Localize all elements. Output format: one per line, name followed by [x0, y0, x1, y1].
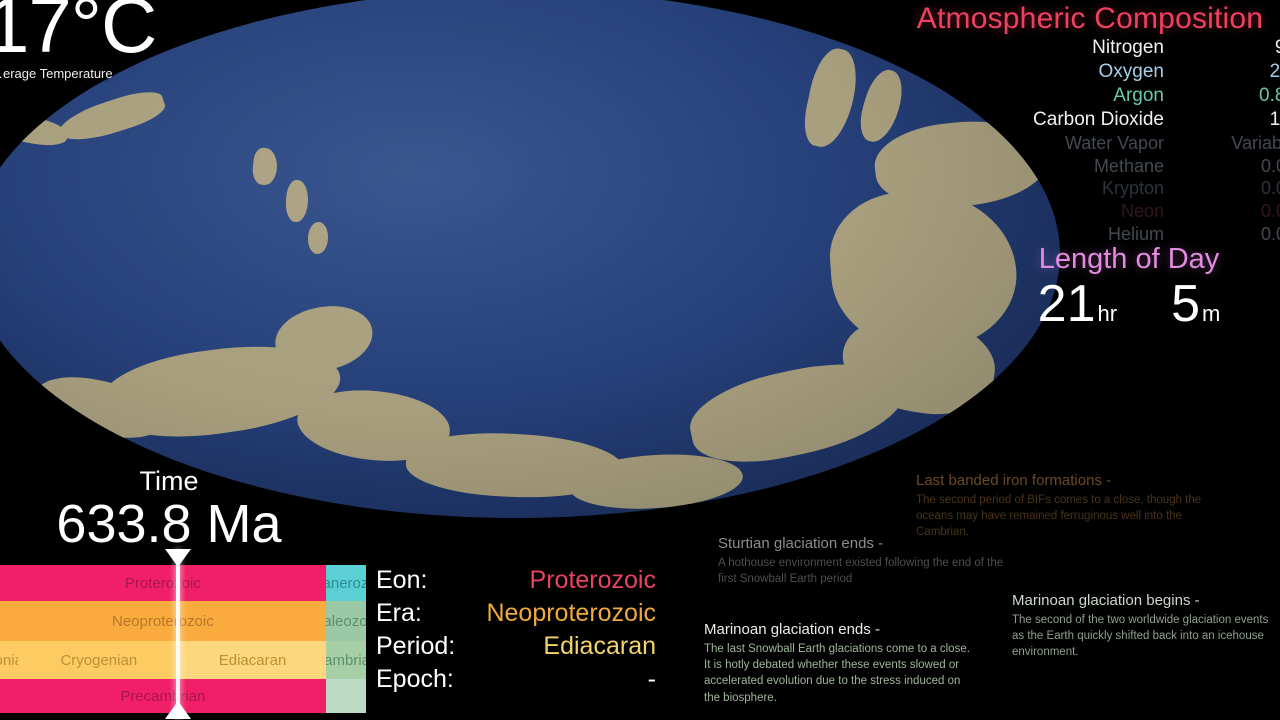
- timescale-cell-label: Tonian: [0, 652, 18, 669]
- timescale-cell-period[interactable]: Cryogenian: [18, 641, 179, 679]
- time-label: Time: [24, 468, 314, 495]
- landmass: [799, 45, 863, 152]
- gas-name: Methane: [890, 156, 1280, 178]
- timescale-cell-period[interactable]: Ediacaran: [179, 641, 325, 679]
- time-block: Time 633.8 Ma: [24, 468, 314, 553]
- geo-info-value: Proterozoic: [530, 566, 656, 595]
- gas-value: Variable: [1231, 133, 1280, 155]
- landmass: [55, 85, 168, 149]
- timescale-cell-era[interactable]: Paleozoic: [326, 601, 366, 641]
- timescale-cell-label: Ediacaran: [219, 652, 287, 669]
- landmass: [31, 366, 171, 449]
- gas-name: Water Vapor: [890, 133, 1280, 155]
- geo-info-row: Epoch:-: [376, 665, 656, 698]
- time-marker-line[interactable]: [176, 549, 180, 719]
- timescale-cell-label: Cryogenian: [60, 652, 137, 669]
- gas-row: Carbon Dioxide1.4: [890, 109, 1280, 132]
- length-of-day-hours: 21hr: [1038, 278, 1117, 330]
- landmass: [683, 348, 914, 476]
- length-of-day-values: 21hr 5m: [964, 278, 1280, 330]
- event-title: Sturtian glaciation ends -: [718, 535, 1018, 554]
- length-of-day-minutes: 5m: [1171, 278, 1220, 330]
- landmass: [568, 449, 746, 514]
- landmass: [307, 222, 328, 255]
- timescale-cell-period[interactable]: Cambrian: [326, 641, 366, 679]
- gas-row: Oxygen2.2: [890, 61, 1280, 84]
- time-marker-arrow-bottom: [165, 701, 191, 719]
- geologic-timescale[interactable]: ProterozoicPhanerozoic NeoproterozoicPal…: [0, 565, 366, 713]
- timescale-band-era[interactable]: NeoproterozoicPaleozoic: [0, 601, 366, 641]
- gas-value: 0.88: [1259, 85, 1280, 108]
- timescale-band-period[interactable]: TonianCryogenianEdiacaranCambrian: [0, 641, 366, 679]
- gas-row: Neon0.00: [890, 201, 1280, 223]
- landmass: [270, 299, 378, 378]
- timescale-cell-label: Paleozoic: [326, 613, 366, 630]
- landmass: [252, 147, 280, 186]
- minutes-unit: m: [1202, 301, 1220, 326]
- timescale-cell-era[interactable]: Neoproterozoic: [0, 601, 326, 641]
- event-card-sturtian-glaciation-ends: Sturtian glaciation ends - A hothouse en…: [718, 535, 1018, 587]
- gas-value: 0.00: [1261, 178, 1280, 200]
- event-title: Marinoan glaciation begins -: [1012, 592, 1274, 611]
- timescale-cell-label: Cambrian: [326, 652, 366, 669]
- geo-info-row: Era:Neoproterozoic: [376, 599, 656, 632]
- geo-info-key: Epoch:: [376, 665, 454, 694]
- geo-info-value: Ediacaran: [543, 632, 656, 661]
- atmospheric-composition-panel: Atmospheric Composition Nitrogen95Oxygen…: [890, 2, 1280, 246]
- gas-value: 2.2: [1270, 61, 1280, 84]
- timescale-cell-label: Neoproterozoic: [112, 613, 214, 630]
- gas-value: 0.00: [1261, 156, 1280, 178]
- atmospheric-composition-title: Atmospheric Composition: [890, 2, 1280, 36]
- gas-name: Argon: [890, 85, 1280, 108]
- length-of-day-title: Length of Day: [964, 243, 1280, 276]
- geo-info-key: Era:: [376, 599, 422, 628]
- average-temperature-block: 17°C …erage Temperature: [0, 0, 156, 81]
- timescale-band-eon[interactable]: ProterozoicPhanerozoic: [0, 565, 366, 601]
- timescale-cell-supereon[interactable]: [326, 679, 366, 713]
- gas-row: Argon0.88: [890, 85, 1280, 108]
- gas-value: 95: [1275, 37, 1280, 60]
- landmass: [0, 110, 70, 149]
- hours-value: 21: [1038, 275, 1096, 333]
- geo-info-row: Period:Ediacaran: [376, 632, 656, 665]
- timescale-cell-label: Proterozoic: [125, 575, 201, 592]
- event-card-marinoan-glaciation-begins: Marinoan glaciation begins - The second …: [1012, 592, 1274, 661]
- geologic-info-panel: Eon:ProterozoicEra:NeoproterozoicPeriod:…: [376, 566, 656, 698]
- gas-row: Methane0.00: [890, 156, 1280, 178]
- gas-value: 1.4: [1270, 109, 1280, 132]
- gas-name: Krypton: [890, 178, 1280, 200]
- timescale-cell-period[interactable]: Tonian: [0, 641, 18, 679]
- timescale-cell-label: Precambrian: [120, 688, 205, 705]
- event-body: The last Snowball Earth glaciations come…: [704, 641, 976, 706]
- gas-list: Nitrogen95Oxygen2.2Argon0.88Carbon Dioxi…: [890, 37, 1280, 246]
- geo-info-key: Eon:: [376, 566, 427, 595]
- event-body: A hothouse environment existed following…: [718, 555, 1018, 588]
- gas-row: Nitrogen95: [890, 37, 1280, 60]
- event-card-marinoan-glaciation-ends: Marinoan glaciation ends - The last Snow…: [704, 621, 976, 706]
- landmass: [294, 385, 452, 467]
- timescale-cell-label: Phanerozoic: [326, 575, 366, 592]
- length-of-day-panel: Length of Day 21hr 5m: [964, 243, 1280, 330]
- time-value: 633.8 Ma: [24, 496, 314, 553]
- event-body: The second period of BIFs comes to a clo…: [916, 492, 1216, 541]
- gas-value: 0.00: [1261, 201, 1280, 223]
- event-body: The second of the two worldwide glaciati…: [1012, 612, 1274, 661]
- landmass: [285, 179, 310, 223]
- hours-unit: hr: [1098, 301, 1118, 326]
- timescale-cell-supereon[interactable]: Precambrian: [0, 679, 326, 713]
- gas-row: Krypton0.00: [890, 178, 1280, 200]
- temperature-value: 17°C: [0, 0, 156, 64]
- gas-name: Carbon Dioxide: [890, 109, 1280, 132]
- gas-name: Neon: [890, 201, 1280, 223]
- event-title: Last banded iron formations -: [916, 472, 1216, 491]
- geo-info-value: Neoproterozoic: [486, 599, 656, 628]
- landmass: [404, 428, 625, 503]
- gas-name: Nitrogen: [890, 37, 1280, 60]
- gas-name: Oxygen: [890, 61, 1280, 84]
- timescale-cell-eon[interactable]: Proterozoic: [0, 565, 326, 601]
- landmass: [96, 333, 345, 450]
- gas-row: Water VaporVariable: [890, 133, 1280, 155]
- geo-info-key: Period:: [376, 632, 455, 661]
- event-title: Marinoan glaciation ends -: [704, 621, 976, 640]
- timescale-cell-eon[interactable]: Phanerozoic: [326, 565, 366, 601]
- event-card-last-banded-iron-formations: Last banded iron formations - The second…: [916, 472, 1216, 541]
- geo-info-value: -: [648, 665, 656, 694]
- geo-info-row: Eon:Proterozoic: [376, 566, 656, 599]
- minutes-value: 5: [1171, 275, 1200, 333]
